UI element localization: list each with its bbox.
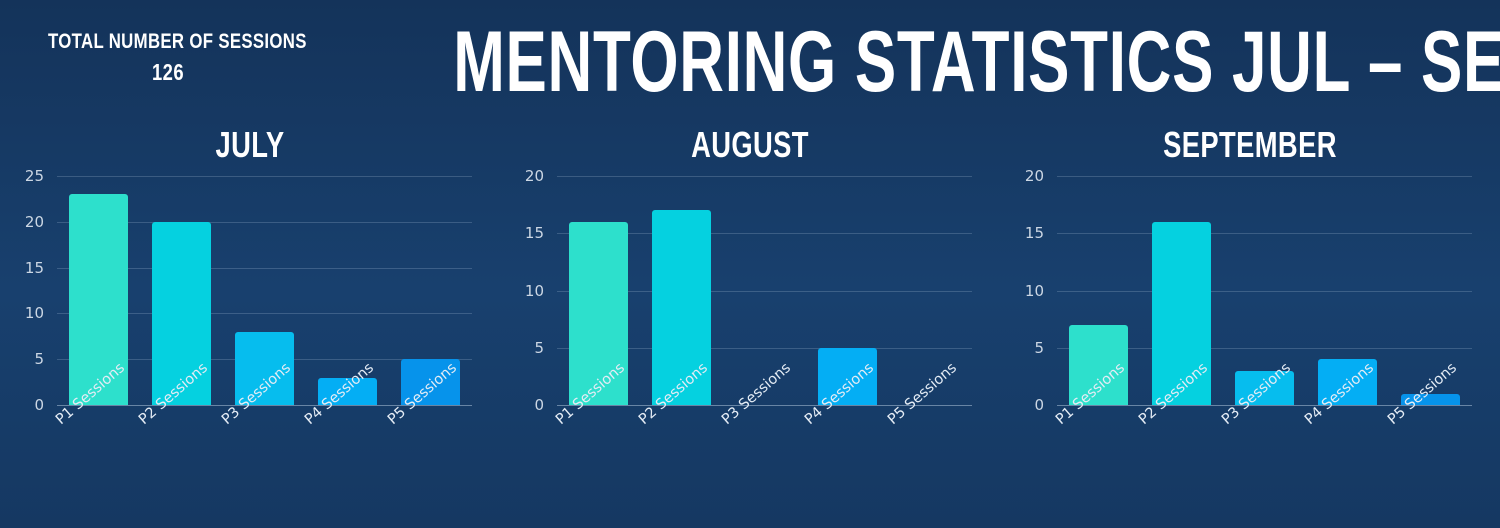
x-label-slot: P5 Sessions bbox=[389, 410, 472, 520]
y-tick-label: 20 bbox=[1025, 167, 1044, 185]
y-tick-label: 15 bbox=[25, 259, 44, 277]
y-tick-label: 10 bbox=[25, 304, 44, 322]
y-tick-label: 0 bbox=[34, 396, 44, 414]
dashboard-canvas: TOTAL NUMBER OF SESSIONS 126 MENTORING S… bbox=[0, 0, 1500, 528]
chart-panel-august: AUGUST 05101520 P1 SessionsP2 SessionsP3… bbox=[500, 118, 1000, 528]
y-tick-label: 0 bbox=[534, 396, 544, 414]
x-label-slot: P4 Sessions bbox=[306, 410, 389, 520]
y-tick-label: 10 bbox=[1025, 282, 1044, 300]
x-axis-august: P1 SessionsP2 SessionsP3 SessionsP4 Sess… bbox=[557, 410, 972, 520]
x-label-slot: P2 Sessions bbox=[140, 410, 223, 520]
chart-panel-july: JULY 0510152025 P1 SessionsP2 SessionsP3… bbox=[0, 118, 500, 528]
x-label-slot: P1 Sessions bbox=[57, 410, 140, 520]
dashboard-header: TOTAL NUMBER OF SESSIONS 126 MENTORING S… bbox=[0, 0, 1500, 118]
total-sessions-label: TOTAL NUMBER OF SESSIONS bbox=[48, 30, 288, 54]
x-label-slot: P1 Sessions bbox=[1057, 410, 1140, 520]
x-axis-september: P1 SessionsP2 SessionsP3 SessionsP4 Sess… bbox=[1057, 410, 1472, 520]
chart-title-september: SEPTEMBER bbox=[1060, 124, 1440, 166]
total-sessions-value: 126 bbox=[48, 59, 288, 86]
y-tick-label: 20 bbox=[25, 213, 44, 231]
total-sessions-kpi: TOTAL NUMBER OF SESSIONS 126 bbox=[18, 30, 318, 86]
y-axis-july: 0510152025 bbox=[0, 176, 50, 405]
chart-title-august: AUGUST bbox=[560, 124, 940, 166]
y-tick-label: 5 bbox=[1034, 339, 1044, 357]
chart-panel-september: SEPTEMBER 05101520 P1 SessionsP2 Session… bbox=[1000, 118, 1500, 528]
y-tick-label: 15 bbox=[525, 224, 544, 242]
x-label-slot: P5 Sessions bbox=[1389, 410, 1472, 520]
charts-row: JULY 0510152025 P1 SessionsP2 SessionsP3… bbox=[0, 118, 1500, 528]
x-label-slot: P2 Sessions bbox=[640, 410, 723, 520]
x-label-slot: P4 Sessions bbox=[806, 410, 889, 520]
y-tick-label: 15 bbox=[1025, 224, 1044, 242]
y-tick-label: 5 bbox=[534, 339, 544, 357]
y-tick-label: 20 bbox=[525, 167, 544, 185]
x-label-slot: P5 Sessions bbox=[889, 410, 972, 520]
x-label-slot: P2 Sessions bbox=[1140, 410, 1223, 520]
y-tick-label: 25 bbox=[25, 167, 44, 185]
x-label-slot: P4 Sessions bbox=[1306, 410, 1389, 520]
y-tick-label: 5 bbox=[34, 350, 44, 368]
y-axis-august: 05101520 bbox=[500, 176, 550, 405]
y-tick-label: 10 bbox=[525, 282, 544, 300]
x-label-slot: P3 Sessions bbox=[1223, 410, 1306, 520]
y-tick-label: 0 bbox=[1034, 396, 1044, 414]
page-title: MENTORING STATISTICS JUL – SEP bbox=[453, 18, 1087, 106]
chart-title-july: JULY bbox=[60, 124, 440, 166]
x-label-slot: P3 Sessions bbox=[723, 410, 806, 520]
x-label-slot: P1 Sessions bbox=[557, 410, 640, 520]
y-axis-september: 05101520 bbox=[1000, 176, 1050, 405]
x-label-slot: P3 Sessions bbox=[223, 410, 306, 520]
x-axis-july: P1 SessionsP2 SessionsP3 SessionsP4 Sess… bbox=[57, 410, 472, 520]
